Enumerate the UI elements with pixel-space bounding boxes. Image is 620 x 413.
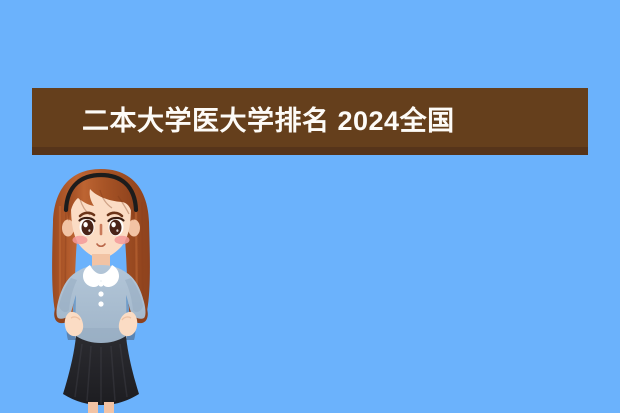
title-banner: 二本大学医大学排名 2024全国 — [32, 88, 588, 155]
skirt — [63, 336, 139, 405]
schoolgirl-illustration — [30, 166, 172, 413]
schoolgirl-svg — [30, 166, 172, 413]
poster-canvas: 二本大学医大学排名 2024全国 — [0, 0, 620, 413]
shirt-buttons — [98, 281, 103, 306]
page-title: 二本大学医大学排名 2024全国 — [82, 92, 455, 151]
